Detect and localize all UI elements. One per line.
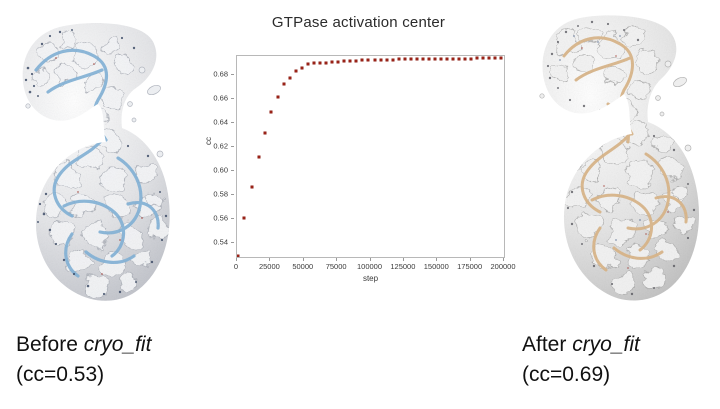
data-point [276, 95, 279, 98]
data-point [331, 60, 334, 63]
y-tick-mark [231, 194, 234, 195]
x-tick-label: 75000 [326, 262, 347, 271]
x-tick-label: 50000 [292, 262, 313, 271]
y-tick-label: 0.54 [213, 237, 228, 246]
y-tick-label: 0.56 [213, 213, 228, 222]
x-tick-mark [236, 258, 237, 261]
caption-before-italic: cryo_fit [84, 333, 152, 356]
data-point [475, 57, 478, 60]
data-point [301, 66, 304, 69]
y-tick-mark [231, 74, 234, 75]
x-tick-mark [303, 258, 304, 261]
data-point [295, 70, 298, 73]
data-point [258, 155, 261, 158]
data-point [487, 57, 490, 60]
data-point [397, 58, 400, 61]
caption-before-cc: (cc=0.53) [16, 360, 151, 390]
data-point [337, 60, 340, 63]
data-point [463, 57, 466, 60]
data-point [421, 58, 424, 61]
x-tick-mark [403, 258, 404, 261]
x-axis-label: step [236, 274, 505, 283]
data-point [367, 59, 370, 62]
data-point [391, 58, 394, 61]
y-tick-label: 0.64 [213, 117, 228, 126]
cc-vs-step-chart: GTPase activation center cc 0.540.560.58… [206, 10, 511, 295]
data-point [264, 131, 267, 134]
data-point [469, 57, 472, 60]
data-point [439, 57, 442, 60]
caption-before-prefix: Before [16, 333, 84, 356]
x-tick-label: 25000 [259, 262, 280, 271]
y-tick-mark [231, 122, 234, 123]
x-axis-ticks: 0250005000075000100000125000150000175000… [236, 258, 505, 274]
x-tick-label: 0 [234, 262, 238, 271]
y-tick-mark [231, 146, 234, 147]
data-point [313, 62, 316, 65]
x-tick-mark [370, 258, 371, 261]
caption-after: After cryo_fit (cc=0.69) [522, 330, 640, 390]
x-tick-mark [336, 258, 337, 261]
data-point [481, 57, 484, 60]
data-point [270, 111, 273, 114]
data-point [289, 76, 292, 79]
y-tick-label: 0.66 [213, 93, 228, 102]
data-point [385, 58, 388, 61]
data-point [427, 57, 430, 60]
data-point [499, 57, 502, 60]
caption-after-italic: cryo_fit [572, 333, 640, 356]
chart-title: GTPase activation center [206, 14, 511, 31]
y-tick-label: 0.62 [213, 141, 228, 150]
caption-after-cc: (cc=0.69) [522, 360, 640, 390]
x-tick-label: 100000 [357, 262, 382, 271]
x-tick-mark [470, 258, 471, 261]
y-tick-label: 0.58 [213, 189, 228, 198]
y-tick-mark [231, 218, 234, 219]
y-tick-mark [231, 98, 234, 99]
x-tick-mark [269, 258, 270, 261]
data-point [409, 58, 412, 61]
x-tick-mark [503, 258, 504, 261]
y-tick-label: 0.60 [213, 165, 228, 174]
data-point [445, 57, 448, 60]
cryoem-render-after [512, 8, 717, 318]
y-tick-mark [231, 170, 234, 171]
data-point [243, 217, 246, 220]
structure-image-after [512, 8, 717, 318]
data-point [451, 57, 454, 60]
data-point [307, 63, 310, 66]
plot-area [236, 55, 505, 258]
x-tick-label: 125000 [390, 262, 415, 271]
data-point [361, 59, 364, 62]
x-tick-mark [436, 258, 437, 261]
data-point [283, 83, 286, 86]
y-tick-mark [231, 242, 234, 243]
data-point [379, 58, 382, 61]
data-point [355, 59, 358, 62]
data-point [457, 57, 460, 60]
cryoem-render-before [2, 8, 207, 318]
data-point [433, 57, 436, 60]
data-point [325, 61, 328, 64]
x-tick-label: 200000 [490, 262, 515, 271]
x-tick-label: 150000 [424, 262, 449, 271]
y-tick-label: 0.68 [213, 69, 228, 78]
data-point [373, 59, 376, 62]
data-point [250, 185, 253, 188]
structure-image-before [2, 8, 207, 318]
y-axis-ticks: 0.540.560.580.600.620.640.660.68 [206, 55, 234, 258]
data-point [403, 58, 406, 61]
data-point [319, 61, 322, 64]
x-tick-label: 175000 [457, 262, 482, 271]
data-point [343, 60, 346, 63]
caption-before: Before cryo_fit (cc=0.53) [16, 330, 151, 390]
data-point [349, 59, 352, 62]
caption-after-prefix: After [522, 333, 572, 356]
data-point [493, 57, 496, 60]
data-point [415, 58, 418, 61]
